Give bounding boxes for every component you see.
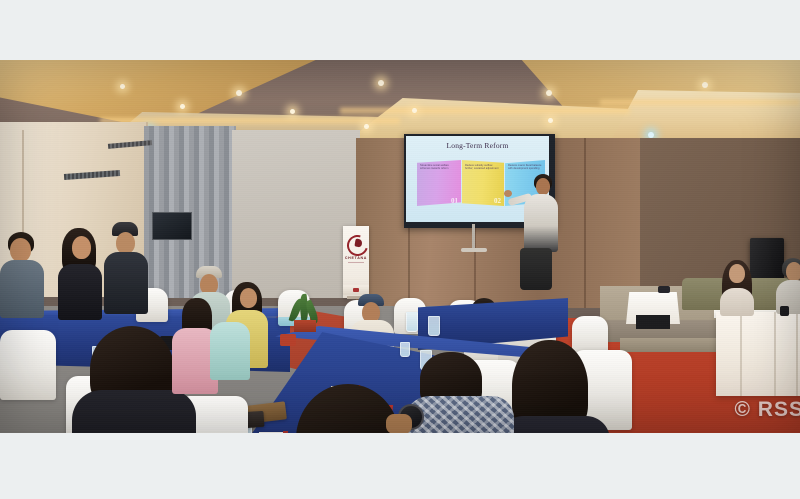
presenter-hand	[504, 190, 512, 197]
ceiling-downlight-icon	[180, 104, 185, 109]
banner-organisation-name: CHETANA	[343, 256, 369, 260]
ceiling-downlight-icon	[236, 90, 242, 96]
ceiling-downlight-icon	[120, 84, 125, 89]
wall-monitor	[152, 212, 192, 240]
head-table-device	[780, 306, 789, 316]
stage-equipment-box	[658, 286, 670, 293]
cove-light-strip-b	[340, 108, 630, 117]
ceiling-downlight-icon	[412, 108, 417, 113]
tent-card-accent	[281, 431, 288, 433]
photo-canvas: Long-Term Reform Streamline social welfa…	[0, 0, 800, 499]
water-glass	[400, 342, 410, 357]
slide-panel-01: Streamline social welfare schemes toward…	[417, 160, 461, 206]
water-glass	[428, 316, 440, 336]
watermark: © RSS	[735, 398, 800, 422]
wall-panel-mid	[232, 130, 360, 298]
slide-panel-number: 02	[494, 197, 501, 205]
ceiling-downlight-icon	[546, 90, 552, 96]
presenter-lower-body	[520, 248, 552, 290]
screen-stand-foot	[461, 248, 487, 252]
banner-rule	[348, 262, 364, 263]
slide-panel-text: Streamline social welfare schemes toward…	[420, 164, 458, 171]
forearm	[386, 414, 412, 433]
slide-panel-text: Reduce subsidy outflow further; sustaine…	[465, 164, 501, 171]
ceiling-downlight-icon	[548, 118, 553, 123]
ceiling-downlight-icon	[290, 109, 295, 114]
pa-speaker-icon	[750, 238, 784, 280]
ceiling-downlight-icon	[364, 124, 369, 129]
ceiling-downlight-icon	[378, 80, 384, 86]
stage-equipment-case	[636, 315, 670, 329]
cove-light-strip-c	[600, 100, 800, 108]
red-folder	[280, 334, 296, 346]
slide-title: Long-Term Reform	[406, 141, 549, 150]
slide-panel-number: 01	[451, 197, 458, 205]
water-glass	[406, 312, 418, 332]
conference-hall-photo: Long-Term Reform Streamline social welfa…	[0, 60, 800, 433]
slide-panel-text: Restore macro fiscal balance with develo…	[508, 164, 542, 171]
chair	[0, 330, 56, 400]
screen-stand-post	[472, 224, 475, 250]
table-tent-card	[257, 432, 285, 433]
roll-up-banner: CHETANA	[343, 226, 369, 298]
slide-panel-02: Reduce subsidy outflow further; sustaine…	[462, 160, 504, 206]
ceiling-downlight-icon	[702, 82, 708, 88]
head-table-skirt	[716, 312, 800, 396]
